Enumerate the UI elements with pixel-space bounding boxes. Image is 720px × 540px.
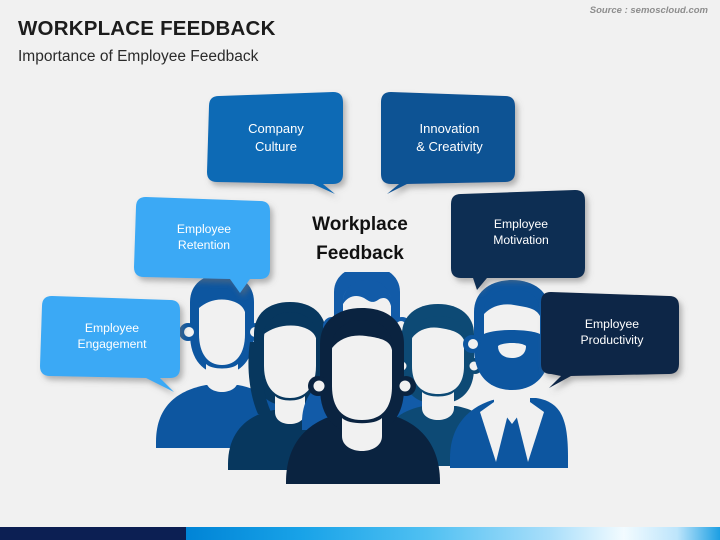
- footer-navy-segment: [0, 527, 186, 540]
- center-title-line1: Workplace: [280, 210, 440, 239]
- center-title-line2: Feedback: [280, 239, 440, 268]
- page-title: WORKPLACE FEEDBACK: [18, 17, 276, 41]
- bubble-employee-retention[interactable]: Employee Retention: [130, 193, 278, 293]
- source-attribution: Source : semoscloud.com: [590, 5, 708, 16]
- bubble-company-culture[interactable]: Company Culture: [201, 90, 351, 195]
- people-group-illustration: [150, 272, 570, 484]
- bubble-employee-productivity[interactable]: Employee Productivity: [537, 288, 687, 388]
- footer-gradient-bar: [0, 527, 720, 540]
- center-title: Workplace Feedback: [280, 210, 440, 269]
- slide-canvas: WORKPLACE FEEDBACK Importance of Employe…: [0, 0, 720, 540]
- bubble-employee-engagement[interactable]: Employee Engagement: [36, 292, 188, 392]
- bubble-innovation-creativity[interactable]: Innovation & Creativity: [377, 90, 522, 195]
- bubble-employee-motivation[interactable]: Employee Motivation: [447, 188, 595, 290]
- page-subtitle: Importance of Employee Feedback: [18, 48, 258, 66]
- footer-blue-gradient-segment: [186, 527, 720, 540]
